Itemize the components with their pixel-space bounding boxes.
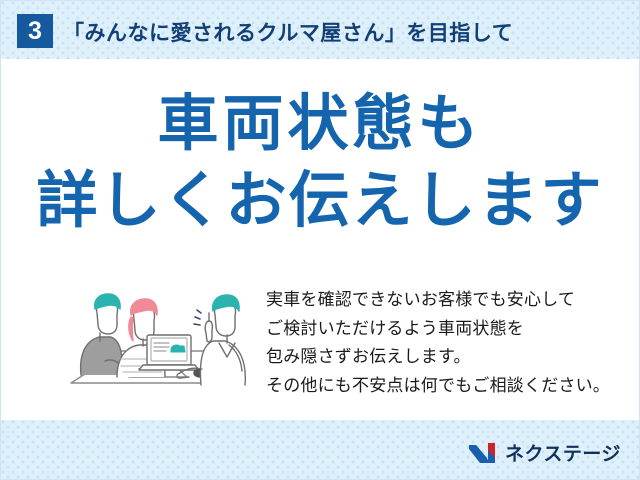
section-number-badge: 3 <box>17 14 53 48</box>
headline-line-2: 詳しくお伝えします <box>1 170 639 231</box>
body-line-3: 包み隠さずお伝えします。 <box>266 343 610 372</box>
headline-line-1: 車両状態も <box>1 93 639 154</box>
promo-poster: 3 「みんなに愛されるクルマ屋さん」を目指して 車両状態も 詳しくお伝えします … <box>0 0 640 480</box>
consultation-illustration <box>59 273 254 398</box>
brand-logo: ネクステージ <box>468 439 621 466</box>
brand-name: ネクステージ <box>505 439 621 466</box>
body-line-1: 実車を確認できないお客様でも安心して <box>266 286 610 315</box>
body-line-2: ご検討いただけるよう車両状態を <box>266 315 610 344</box>
body-line-4: その他にも不安点は何でもご相談ください。 <box>266 372 610 401</box>
nexstage-n-logo-icon <box>468 441 498 465</box>
headline: 車両状態も 詳しくお伝えします <box>1 93 639 231</box>
page-title: 「みんなに愛されるクルマ屋さん」を目指して <box>63 17 513 47</box>
body-copy: 実車を確認できないお客様でも安心して ご検討いただけるよう車両状態を 包み隠さず… <box>266 286 610 400</box>
